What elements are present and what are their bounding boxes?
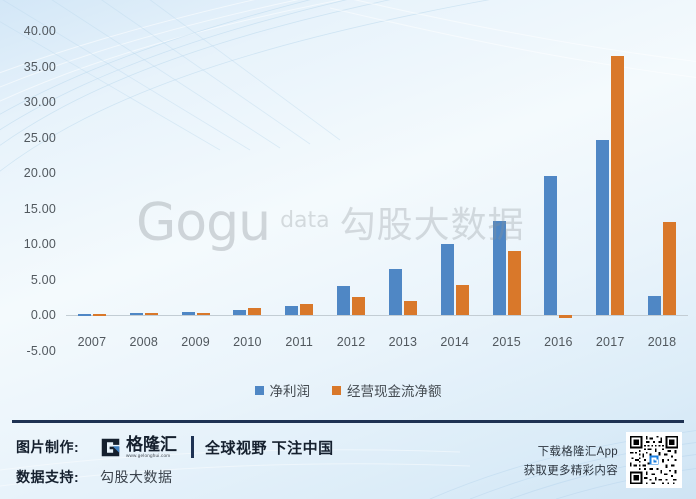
bar-operating-cash-flow[interactable] <box>508 251 521 315</box>
y-axis-tick-label: 0.00 <box>31 308 56 322</box>
footer-divider <box>12 420 684 423</box>
footer-vertical-divider <box>191 436 194 458</box>
footer-row-made-by: 图片制作: 格隆汇 www.gelonghui.com 全球视野 下注中国 <box>16 432 334 462</box>
chart-page: 40.0035.0030.0025.0020.0015.0010.005.000… <box>0 0 696 499</box>
bar-operating-cash-flow[interactable] <box>300 304 313 315</box>
y-axis-tick-label: 20.00 <box>24 166 56 180</box>
qr-promo-line-1: 下载格隆汇App <box>538 443 618 459</box>
data-source-label: 数据支持: <box>16 467 100 487</box>
bar-net-profit[interactable] <box>182 312 195 316</box>
x-axis-tick-label: 2012 <box>325 335 377 349</box>
x-axis-tick-label: 2009 <box>170 335 222 349</box>
bar-net-profit[interactable] <box>441 244 454 315</box>
x-axis-tick-label: 2015 <box>481 335 533 349</box>
y-axis-tick-label: 30.00 <box>24 95 56 109</box>
x-axis-tick-label: 2008 <box>118 335 170 349</box>
bar-net-profit[interactable] <box>544 176 557 315</box>
x-axis-tick-label: 2017 <box>584 335 636 349</box>
footer-slogan: 全球视野 下注中国 <box>205 437 334 458</box>
data-source-value: 勾股大数据 <box>100 467 173 487</box>
gelonghui-brand-url: www.gelonghui.com <box>126 454 177 459</box>
qr-promo-text: 下载格隆汇App 获取更多精彩内容 <box>524 443 618 478</box>
qr-promo-line-2: 获取更多精彩内容 <box>524 462 618 478</box>
x-axis-tick-label: 2011 <box>273 335 325 349</box>
y-axis-tick-label: 5.00 <box>31 273 56 287</box>
bar-net-profit[interactable] <box>130 313 143 315</box>
y-axis-tick-label: 15.00 <box>24 202 56 216</box>
bar-chart: 40.0035.0030.0025.0020.0015.0010.005.000… <box>0 0 696 405</box>
bar-operating-cash-flow[interactable] <box>559 315 572 318</box>
bar-net-profit[interactable] <box>648 296 661 316</box>
y-axis-tick-label: 35.00 <box>24 60 56 74</box>
x-axis-tick-label: 2007 <box>66 335 118 349</box>
y-axis-tick-label: 40.00 <box>24 24 56 38</box>
x-axis-tick-label: 2013 <box>377 335 429 349</box>
bar-operating-cash-flow[interactable] <box>145 313 158 315</box>
bar-operating-cash-flow[interactable] <box>352 297 365 315</box>
bar-net-profit[interactable] <box>493 221 506 316</box>
x-axis-tick-label: 2016 <box>532 335 584 349</box>
qr-code-icon[interactable] <box>626 432 682 488</box>
qr-promo: 下载格隆汇App 获取更多精彩内容 <box>524 432 682 488</box>
bar-operating-cash-flow[interactable] <box>248 308 261 315</box>
legend-item[interactable]: 净利润 <box>255 380 311 400</box>
x-axis-tick-label: 2010 <box>221 335 273 349</box>
y-axis-tick-label: 10.00 <box>24 237 56 251</box>
gelonghui-brand-text: 格隆汇 www.gelonghui.com <box>126 436 177 459</box>
bar-net-profit[interactable] <box>596 140 609 316</box>
legend-label: 净利润 <box>270 380 311 400</box>
bar-net-profit[interactable] <box>285 306 298 315</box>
gelonghui-brand: 格隆汇 www.gelonghui.com <box>100 436 177 459</box>
chart-legend: 净利润经营现金流净额 <box>0 380 696 400</box>
bar-operating-cash-flow[interactable] <box>93 314 106 316</box>
y-axis-tick-label: 25.00 <box>24 131 56 145</box>
bar-operating-cash-flow[interactable] <box>404 301 417 316</box>
legend-label: 经营现金流净额 <box>347 380 442 400</box>
x-axis-labels: 2007200820092010201120122013201420152016… <box>66 335 688 349</box>
footer: 图片制作: 格隆汇 www.gelonghui.com 全球视野 下注中国 <box>0 420 696 499</box>
bar-operating-cash-flow[interactable] <box>197 313 210 316</box>
y-axis-tick-label: -5.00 <box>27 344 57 358</box>
footer-credits: 图片制作: 格隆汇 www.gelonghui.com 全球视野 下注中国 <box>16 432 334 492</box>
bar-net-profit[interactable] <box>337 286 350 316</box>
bar-operating-cash-flow[interactable] <box>456 285 469 316</box>
legend-item[interactable]: 经营现金流净额 <box>332 380 442 400</box>
x-axis-tick-label: 2018 <box>636 335 688 349</box>
x-axis-tick-label: 2014 <box>429 335 481 349</box>
bar-operating-cash-flow[interactable] <box>611 56 624 316</box>
gelonghui-logo-icon <box>100 437 121 458</box>
gelonghui-brand-name: 格隆汇 <box>126 436 177 453</box>
legend-swatch-icon <box>332 386 341 395</box>
y-axis-labels: 40.0035.0030.0025.0020.0015.0010.005.000… <box>0 0 64 405</box>
bar-net-profit[interactable] <box>389 269 402 316</box>
footer-row-data-source: 数据支持: 勾股大数据 <box>16 462 334 492</box>
bar-net-profit[interactable] <box>78 314 91 316</box>
bar-net-profit[interactable] <box>233 310 246 315</box>
legend-swatch-icon <box>255 386 264 395</box>
bar-operating-cash-flow[interactable] <box>663 222 676 315</box>
made-by-label: 图片制作: <box>16 437 100 457</box>
